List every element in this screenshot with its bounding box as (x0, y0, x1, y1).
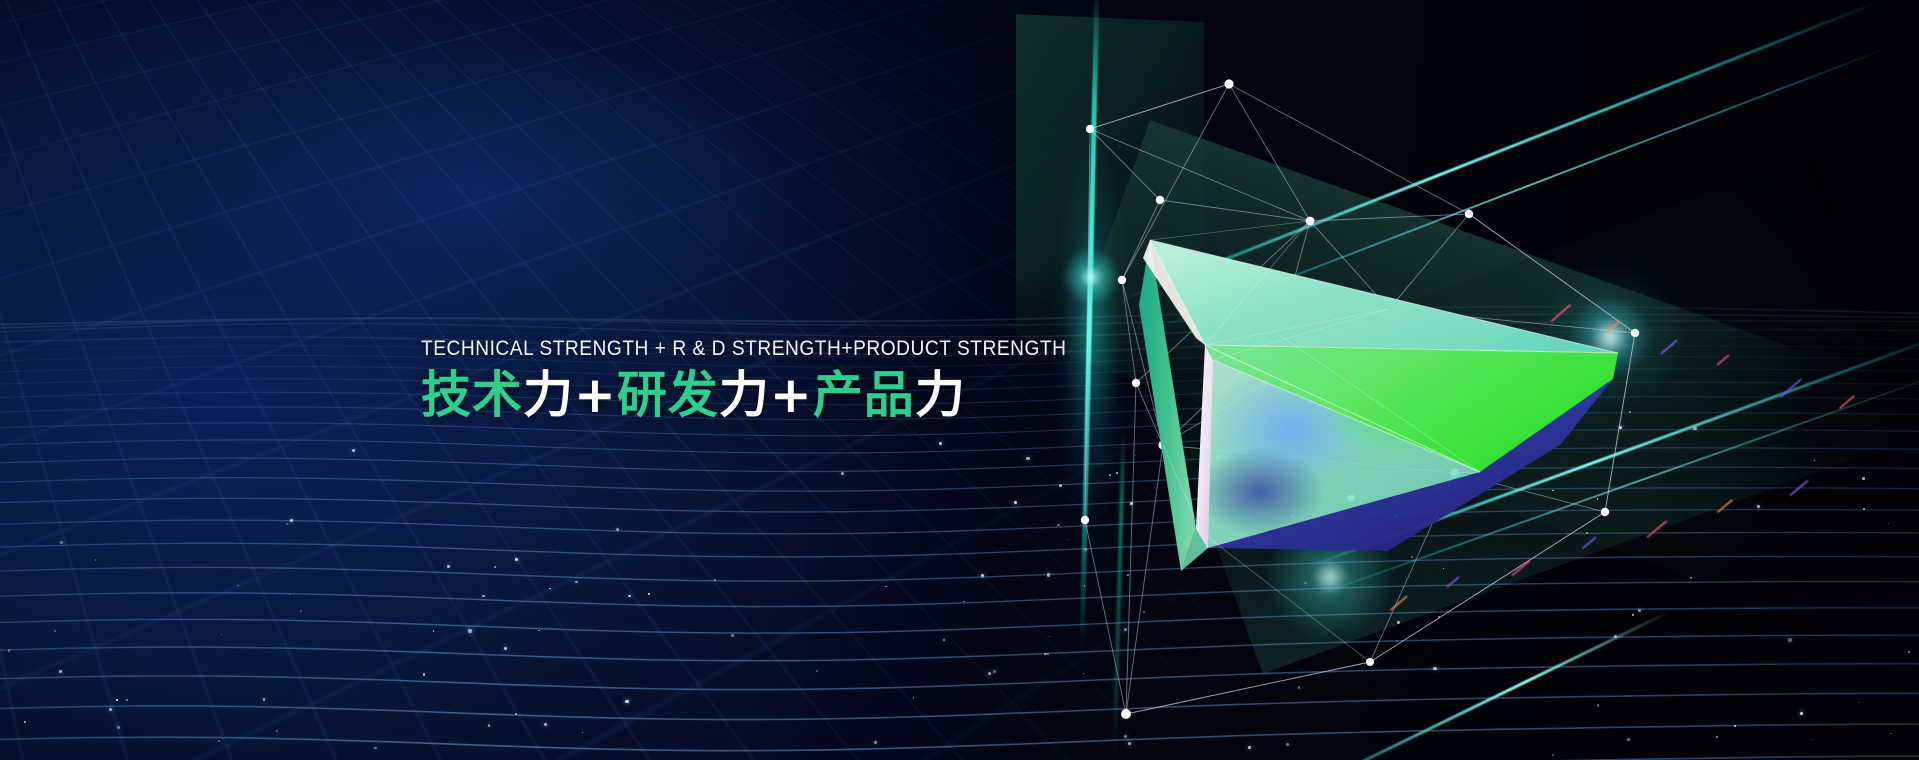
hero-copy-block: TECHNICAL STRENGTH + R & D STRENGTH+PROD… (421, 336, 1146, 423)
headline-segment-2: 力+ (523, 366, 617, 424)
headline-segment-5: 产品 (813, 366, 915, 424)
hero-headline: 技术力+研发力+产品力 (421, 367, 1146, 423)
headline-segment-4: 力+ (719, 366, 813, 424)
hero-eyebrow: TECHNICAL STRENGTH + R & D STRENGTH+PROD… (421, 336, 1066, 360)
headline-segment-1: 技术 (421, 366, 523, 424)
headline-segment-3: 研发 (617, 366, 719, 424)
hero-banner: TECHNICAL STRENGTH + R & D STRENGTH+PROD… (0, 0, 1919, 760)
headline-segment-6: 力 (915, 366, 966, 424)
